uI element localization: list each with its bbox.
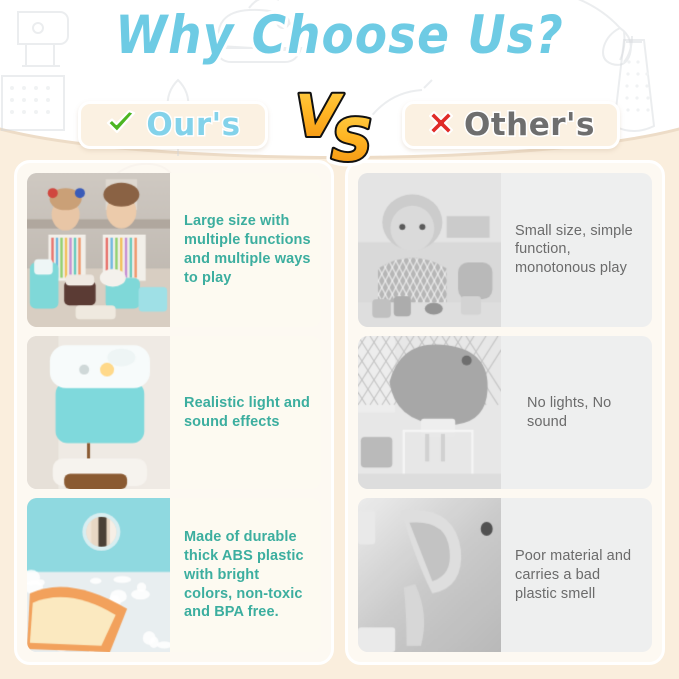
doodle-dotted-panel-icon	[0, 66, 82, 146]
badge-others-label: Other's	[464, 110, 595, 141]
x-icon	[427, 109, 455, 142]
badge-others: Other's	[402, 101, 620, 149]
ours-image-1	[27, 173, 170, 327]
others-image-3	[358, 498, 501, 652]
others-image-2	[358, 336, 501, 490]
ours-text-3: Made of durable thick ABS plastic with b…	[170, 498, 321, 652]
ours-text-2: Realistic light and sound effects	[170, 336, 321, 490]
check-icon	[105, 109, 137, 142]
ours-image-2	[27, 336, 170, 490]
column-others: Small size, simple function, monotonous …	[345, 160, 665, 665]
vs-emblem: V V V S S S	[291, 80, 389, 168]
ours-row-1: Large size with multiple functions and m…	[27, 173, 321, 327]
others-text-1: Small size, simple function, monotonous …	[501, 173, 652, 327]
ours-row-3: Made of durable thick ABS plastic with b…	[27, 498, 321, 652]
ours-image-3	[27, 498, 170, 652]
column-ours: Large size with multiple functions and m…	[14, 160, 334, 665]
page-title: Why Choose Us?	[115, 5, 563, 67]
others-text-2: No lights, No sound	[501, 336, 652, 490]
badge-ours: Our's	[78, 101, 268, 149]
others-text-3: Poor material and carries a bad plastic …	[501, 498, 652, 652]
others-image-1	[358, 173, 501, 327]
ours-text-1: Large size with multiple functions and m…	[170, 173, 321, 327]
others-row-2: No lights, No sound	[358, 336, 652, 490]
svg-text:S: S	[331, 106, 373, 168]
badge-ours-label: Our's	[146, 110, 240, 141]
page-title-wrap: Why Choose Us?	[0, 8, 679, 63]
ours-row-2: Realistic light and sound effects	[27, 336, 321, 490]
others-row-3: Poor material and carries a bad plastic …	[358, 498, 652, 652]
others-row-1: Small size, simple function, monotonous …	[358, 173, 652, 327]
infographic-stage: Why Choose Us? Why Choose Us? Our's Othe…	[0, 0, 679, 679]
